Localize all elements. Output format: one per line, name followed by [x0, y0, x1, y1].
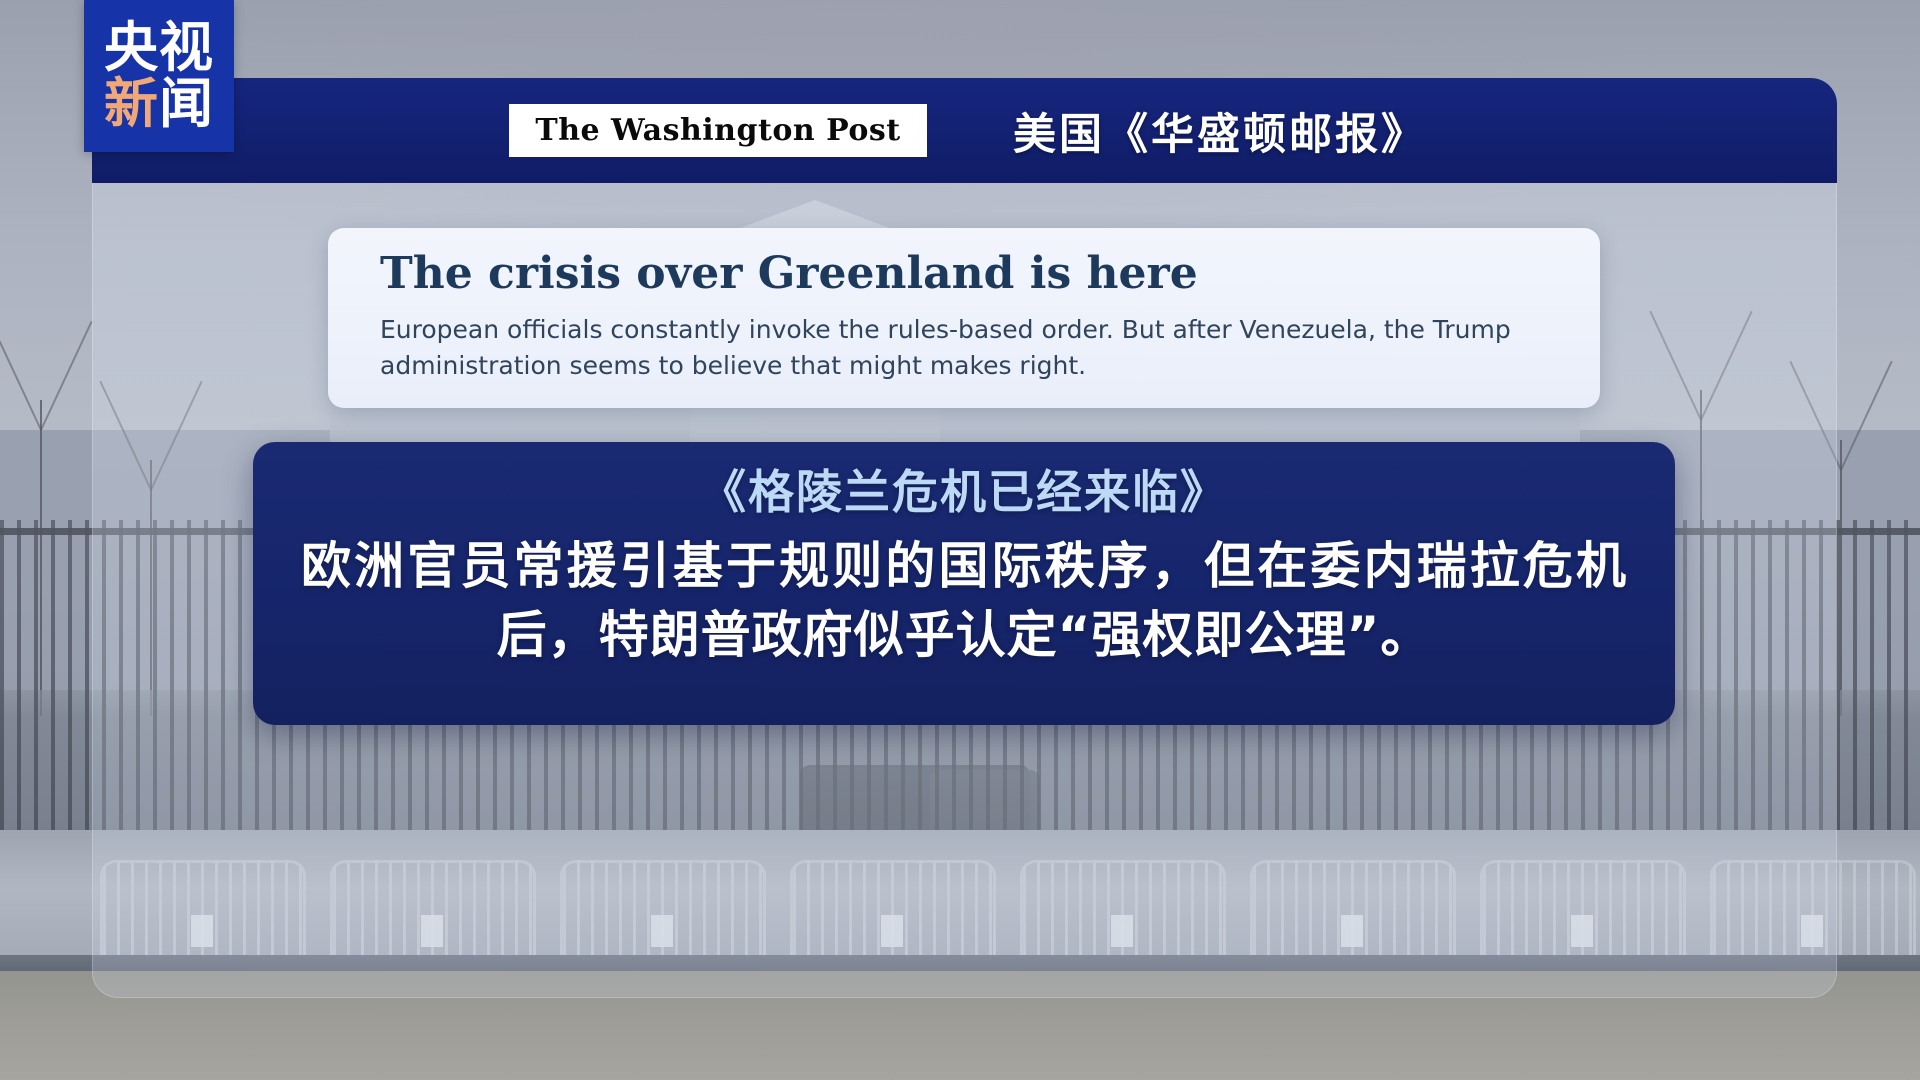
translation-title: 《格陵兰危机已经来临》 — [301, 464, 1627, 522]
washington-post-wordmark: The Washington Post — [535, 113, 900, 148]
washington-post-logo-plate: The Washington Post — [509, 104, 927, 157]
article-headline: The crisis over Greenland is here — [380, 250, 1560, 298]
cctv-logo-wen: 闻 — [159, 76, 214, 132]
article-card: The crisis over Greenland is here Europe… — [328, 228, 1600, 408]
cctv-news-logo: 央视 新 闻 — [84, 0, 234, 152]
source-banner: The Washington Post 美国《华盛顿邮报》 — [92, 78, 1837, 183]
article-standfirst: European officials constantly invoke the… — [380, 312, 1560, 383]
cctv-logo-line-2: 新 闻 — [104, 76, 214, 132]
cctv-logo-yangshi: 央视 — [104, 20, 214, 76]
translation-card: 《格陵兰危机已经来临》 欧洲官员常援引基于规则的国际秩序，但在委内瑞拉危机后，特… — [253, 442, 1675, 725]
cctv-logo-line-1: 央视 — [104, 20, 214, 76]
source-label-cn: 美国《华盛顿邮报》 — [1013, 100, 1427, 162]
cctv-logo-xin: 新 — [104, 76, 159, 132]
translation-body: 欧洲官员常援引基于规则的国际秩序，但在委内瑞拉危机后，特朗普政府似乎认定“强权即… — [301, 532, 1627, 670]
news-graphic-stage: The Washington Post 美国《华盛顿邮报》 央视 新 闻 The… — [0, 0, 1920, 1080]
